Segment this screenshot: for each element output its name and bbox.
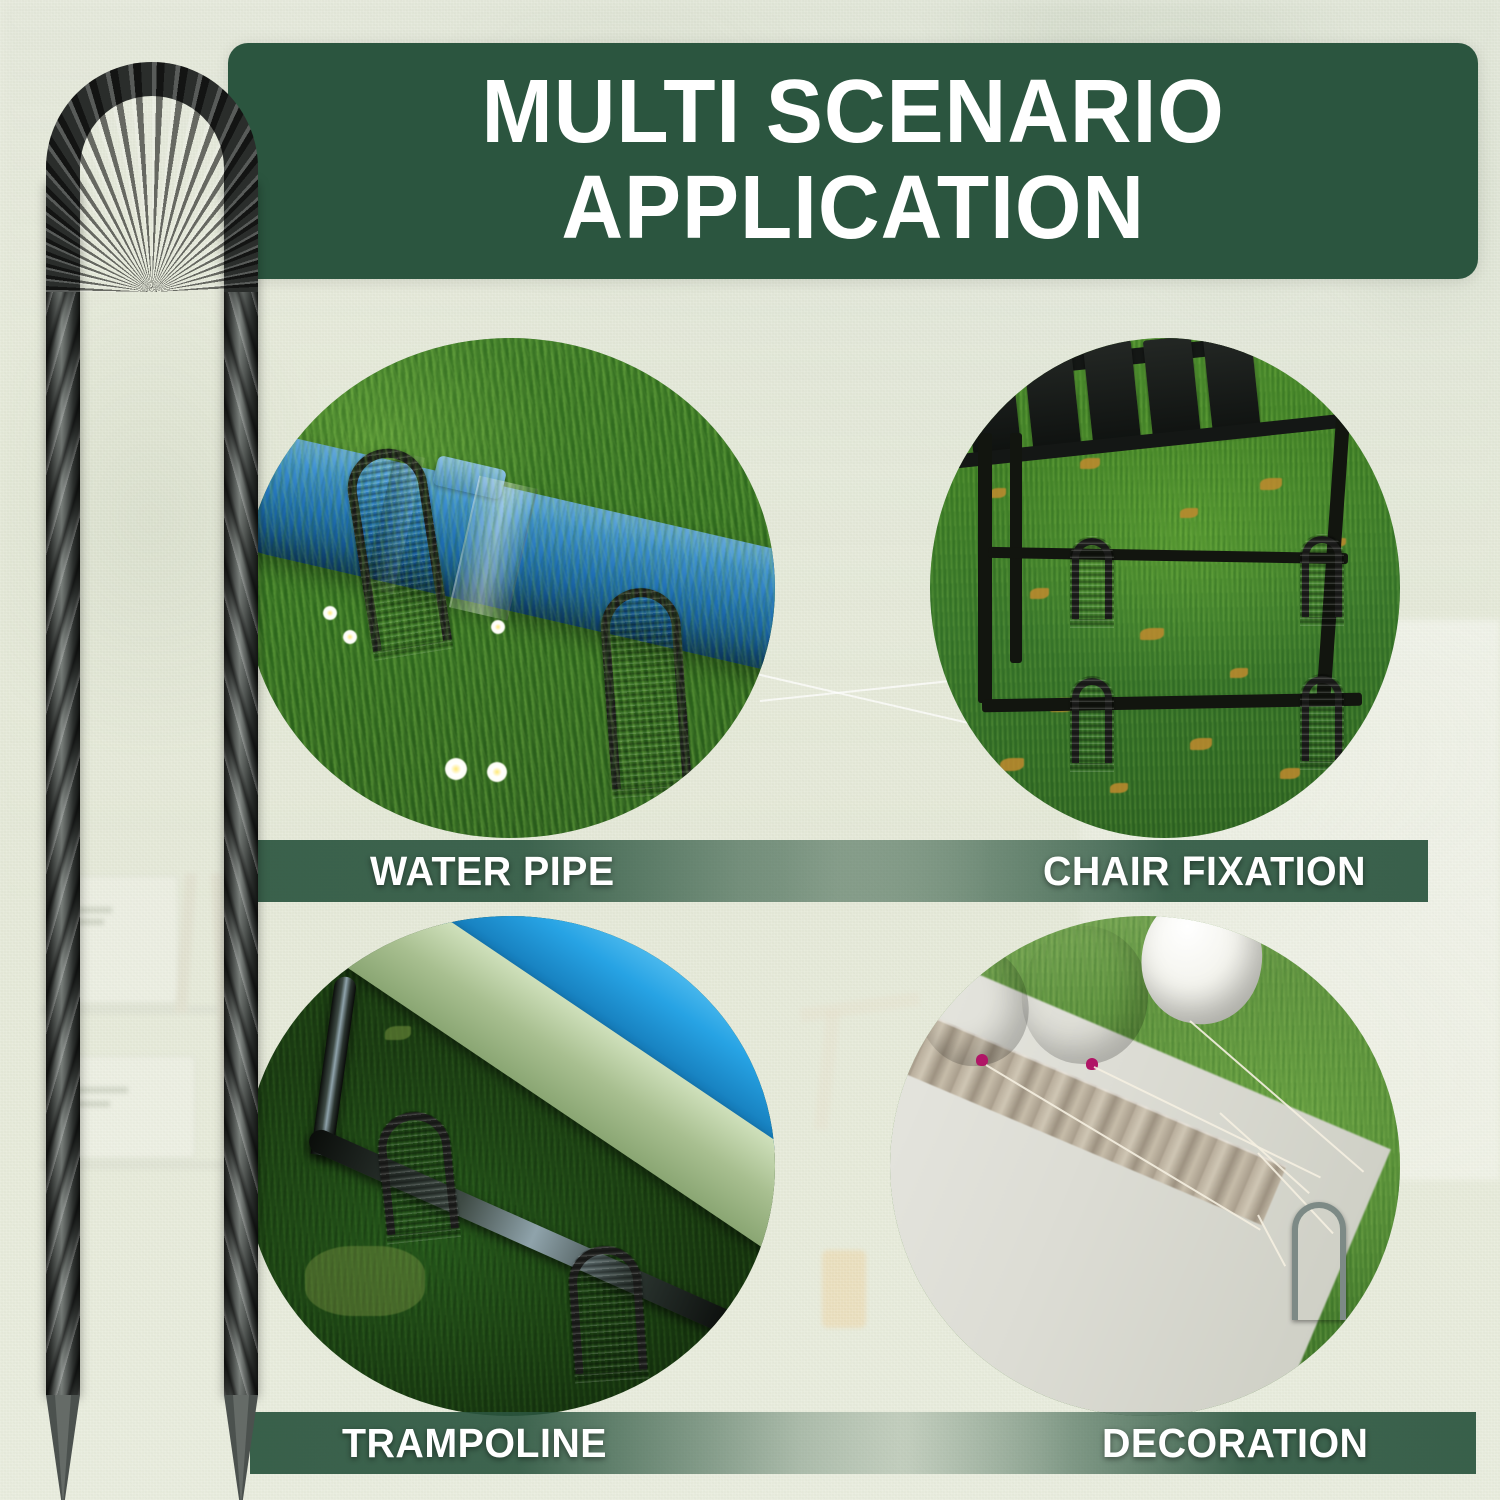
water-pipe-photo bbox=[245, 338, 775, 838]
rebar-stake-in-photo bbox=[1292, 1202, 1346, 1320]
rebar-stake-in-photo bbox=[1072, 538, 1112, 619]
decoration-photo bbox=[890, 916, 1400, 1416]
header-title-line-2: APPLICATION bbox=[561, 163, 1145, 255]
header-title-line-1: MULTI SCENARIO bbox=[481, 67, 1224, 159]
bench-slat bbox=[1143, 338, 1201, 442]
background-lantern bbox=[822, 1250, 866, 1328]
rebar-stake-in-photo bbox=[1302, 536, 1342, 617]
rebar-stake-in-photo bbox=[1072, 678, 1112, 763]
trampoline-photo bbox=[245, 916, 775, 1416]
header-banner: MULTI SCENARIO APPLICATION bbox=[228, 43, 1478, 279]
rebar-stake-in-photo bbox=[567, 1244, 648, 1375]
rebar-stake-in-photo bbox=[1302, 676, 1342, 761]
chair-fixation-photo bbox=[930, 338, 1400, 838]
product-marketing-poster: MULTI SCENARIO APPLICATION WATER PIPE bbox=[0, 0, 1500, 1500]
bench-leg-left bbox=[978, 433, 992, 703]
